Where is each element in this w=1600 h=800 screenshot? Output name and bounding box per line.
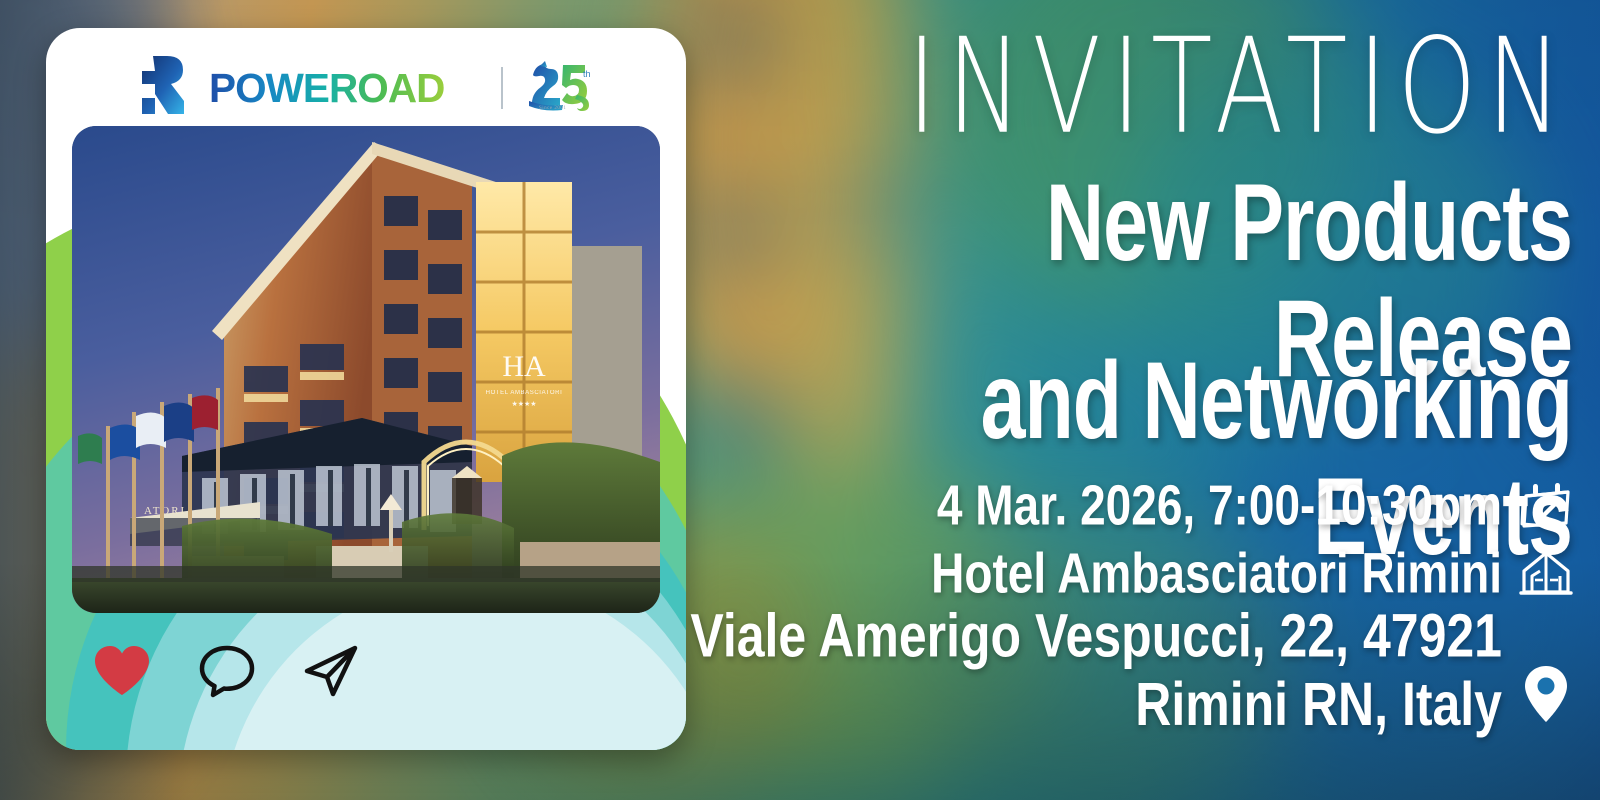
detail-row-venue: Hotel Ambasciatori Rimini — [714, 546, 1574, 602]
poweroad-wordmark: POWEROAD — [209, 65, 485, 111]
instagram-post-card: POWEROAD — [46, 28, 686, 750]
event-venue: Hotel Ambasciatori Rimini — [931, 543, 1502, 606]
anniversary-tagline: Since 2001 — [539, 106, 566, 111]
logo-divider — [501, 67, 503, 109]
like-icon[interactable] — [92, 644, 152, 698]
anniversary-25th-icon: th Since 2001 — [519, 59, 595, 117]
hotel-photo: HA HOTEL AMBASCIATORI ★★★★ — [72, 126, 660, 613]
hotel-building-icon — [1518, 546, 1574, 602]
location-pin-icon — [1518, 666, 1574, 722]
anniversary-suffix: th — [583, 69, 591, 79]
share-icon[interactable] — [302, 644, 360, 698]
address-line-2: Rimini RN, Italy — [690, 670, 1502, 738]
poweroad-wordmark-text: POWEROAD — [209, 65, 444, 111]
detail-row-date: 4 Mar. 2026, 7:00-10:30pm — [714, 478, 1574, 534]
invitation-poster: POWEROAD — [0, 0, 1600, 800]
svg-text:HA: HA — [502, 350, 546, 383]
svg-text:ATORI: ATORI — [144, 505, 186, 517]
svg-text:HOTEL AMBASCIATORI: HOTEL AMBASCIATORI — [486, 390, 563, 396]
detail-row-address: Viale Amerigo Vespucci, 22, 47921 Rimini… — [714, 614, 1574, 726]
address-line-1: Viale Amerigo Vespucci, 22, 47921 — [690, 602, 1502, 670]
comment-icon[interactable] — [198, 644, 256, 698]
brand-logo-row: POWEROAD — [46, 54, 686, 121]
svg-text:★★★★: ★★★★ — [511, 400, 536, 408]
calendar-check-icon — [1518, 478, 1574, 534]
event-details: 4 Mar. 2026, 7:00-10:30pm Hotel Ambascia… — [714, 478, 1574, 738]
eyebrow-invitation: INVITATION — [907, 22, 1572, 154]
poweroad-r-mark-icon — [137, 54, 193, 121]
event-address: Viale Amerigo Vespucci, 22, 47921 Rimini… — [690, 602, 1502, 739]
invitation-text-column: INVITATION New Products Release and Netw… — [700, 0, 1580, 800]
event-date-time: 4 Mar. 2026, 7:00-10:30pm — [937, 475, 1502, 538]
post-actions — [92, 644, 360, 698]
